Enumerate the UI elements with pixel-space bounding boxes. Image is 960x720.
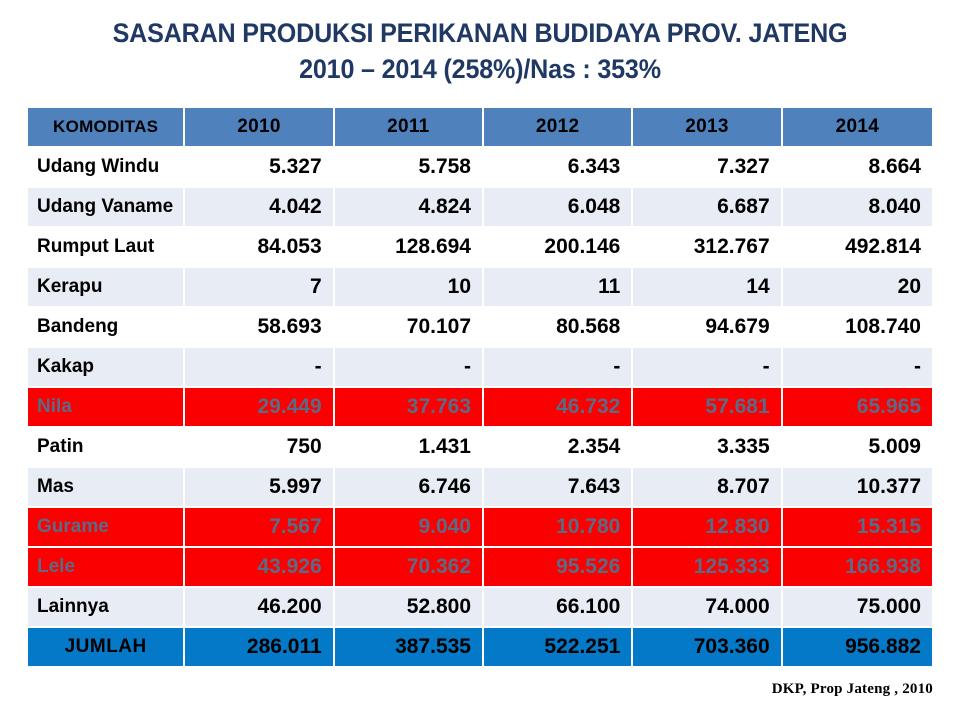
cell-value: 1.431 [335,428,484,468]
column-header-2010: 2010 [185,108,334,148]
cell-value: - [484,348,633,388]
cell-value: 10.377 [783,468,932,508]
cell-value: 387.535 [335,628,484,666]
table-row: Kakap----- [28,348,932,388]
cell-value: 75.000 [783,588,932,628]
cell-value: 108.740 [783,308,932,348]
row-label: Patin [28,428,185,468]
column-header-komoditas: KOMODITAS [28,108,185,148]
row-label: Rumput Laut [28,228,185,268]
cell-value: 5.327 [185,148,334,188]
row-label: Mas [28,468,185,508]
cell-value: 37.763 [335,388,484,428]
row-label: Lainnya [28,588,185,628]
cell-value: 70.107 [335,308,484,348]
row-label: Nila [28,388,185,428]
row-label: Kerapu [28,268,185,308]
cell-value: 312.767 [633,228,782,268]
cell-value: 84.053 [185,228,334,268]
cell-value: 6.048 [484,188,633,228]
cell-value: 7 [185,268,334,308]
cell-value: 74.000 [633,588,782,628]
cell-value: 8.040 [783,188,932,228]
cell-value: 4.042 [185,188,334,228]
cell-value: 46.732 [484,388,633,428]
cell-value: 43.926 [185,548,334,588]
cell-value: 58.693 [185,308,334,348]
cell-value: 29.449 [185,388,334,428]
table-row: Udang Vaname4.0424.8246.0486.6878.040 [28,188,932,228]
cell-value: 46.200 [185,588,334,628]
cell-value: 95.526 [484,548,633,588]
cell-value: 7.327 [633,148,782,188]
cell-value: 492.814 [783,228,932,268]
column-header-2011: 2011 [335,108,484,148]
cell-value: 5.009 [783,428,932,468]
column-header-2013: 2013 [633,108,782,148]
cell-value: 750 [185,428,334,468]
cell-value: 10 [335,268,484,308]
cell-value: 5.758 [335,148,484,188]
cell-value: 20 [783,268,932,308]
cell-value: 12.830 [633,508,782,548]
table-row: Gurame7.5679.04010.78012.83015.315 [28,508,932,548]
cell-value: - [185,348,334,388]
table-row: Udang Windu5.3275.7586.3437.3278.664 [28,148,932,188]
cell-value: 166.938 [783,548,932,588]
cell-value: 52.800 [335,588,484,628]
cell-value: 15.315 [783,508,932,548]
cell-value: 65.965 [783,388,932,428]
cell-value: 10.780 [484,508,633,548]
table-row: Rumput Laut84.053128.694200.146312.76749… [28,228,932,268]
production-table-container: KOMODITAS 2010 2011 2012 2013 2014 Udang… [28,108,932,666]
cell-value: 286.011 [185,628,334,666]
row-label: Udang Windu [28,148,185,188]
table-header-row: KOMODITAS 2010 2011 2012 2013 2014 [28,108,932,148]
table-row: Kerapu710111420 [28,268,932,308]
cell-value: 200.146 [484,228,633,268]
table-row: Bandeng58.69370.10780.56894.679108.740 [28,308,932,348]
cell-value: 703.360 [633,628,782,666]
row-label: Gurame [28,508,185,548]
column-header-2014: 2014 [783,108,932,148]
cell-value: 14 [633,268,782,308]
page-title-line2: 2010 – 2014 (258%)/Nas : 353% [62,52,899,88]
table-row: Lainnya46.20052.80066.10074.00075.000 [28,588,932,628]
production-table: KOMODITAS 2010 2011 2012 2013 2014 Udang… [28,108,932,666]
row-label: JUMLAH [28,628,185,666]
table-row: Mas5.9976.7467.6438.70710.377 [28,468,932,508]
cell-value: 5.997 [185,468,334,508]
table-total-row: JUMLAH286.011387.535522.251703.360956.88… [28,628,932,666]
page-title-line1: SASARAN PRODUKSI PERIKANAN BUDIDAYA PROV… [113,18,848,48]
cell-value: 57.681 [633,388,782,428]
cell-value: 9.040 [335,508,484,548]
cell-value: 6.343 [484,148,633,188]
cell-value: 6.746 [335,468,484,508]
table-body: Udang Windu5.3275.7586.3437.3278.664Udan… [28,148,932,666]
cell-value: - [633,348,782,388]
cell-value: 128.694 [335,228,484,268]
cell-value: 11 [484,268,633,308]
cell-value: 94.679 [633,308,782,348]
row-label: Lele [28,548,185,588]
cell-value: 80.568 [484,308,633,348]
table-row: Nila29.44937.76346.73257.68165.965 [28,388,932,428]
row-label: Udang Vaname [28,188,185,228]
source-credit: DKP, Prop Jateng , 2010 [772,681,933,698]
cell-value: 125.333 [633,548,782,588]
cell-value: 8.707 [633,468,782,508]
cell-value: 6.687 [633,188,782,228]
cell-value: 70.362 [335,548,484,588]
cell-value: - [335,348,484,388]
cell-value: 7.567 [185,508,334,548]
cell-value: 2.354 [484,428,633,468]
cell-value: 4.824 [335,188,484,228]
cell-value: 956.882 [783,628,932,666]
table-header: KOMODITAS 2010 2011 2012 2013 2014 [28,108,932,148]
table-row: Lele43.92670.36295.526125.333166.938 [28,548,932,588]
cell-value: 66.100 [484,588,633,628]
cell-value: 3.335 [633,428,782,468]
row-label: Bandeng [28,308,185,348]
row-label: Kakap [28,348,185,388]
cell-value: 8.664 [783,148,932,188]
page-title: SASARAN PRODUKSI PERIKANAN BUDIDAYA PROV… [62,0,899,88]
cell-value: 522.251 [484,628,633,666]
cell-value: - [783,348,932,388]
column-header-2012: 2012 [484,108,633,148]
table-row: Patin7501.4312.3543.3355.009 [28,428,932,468]
cell-value: 7.643 [484,468,633,508]
